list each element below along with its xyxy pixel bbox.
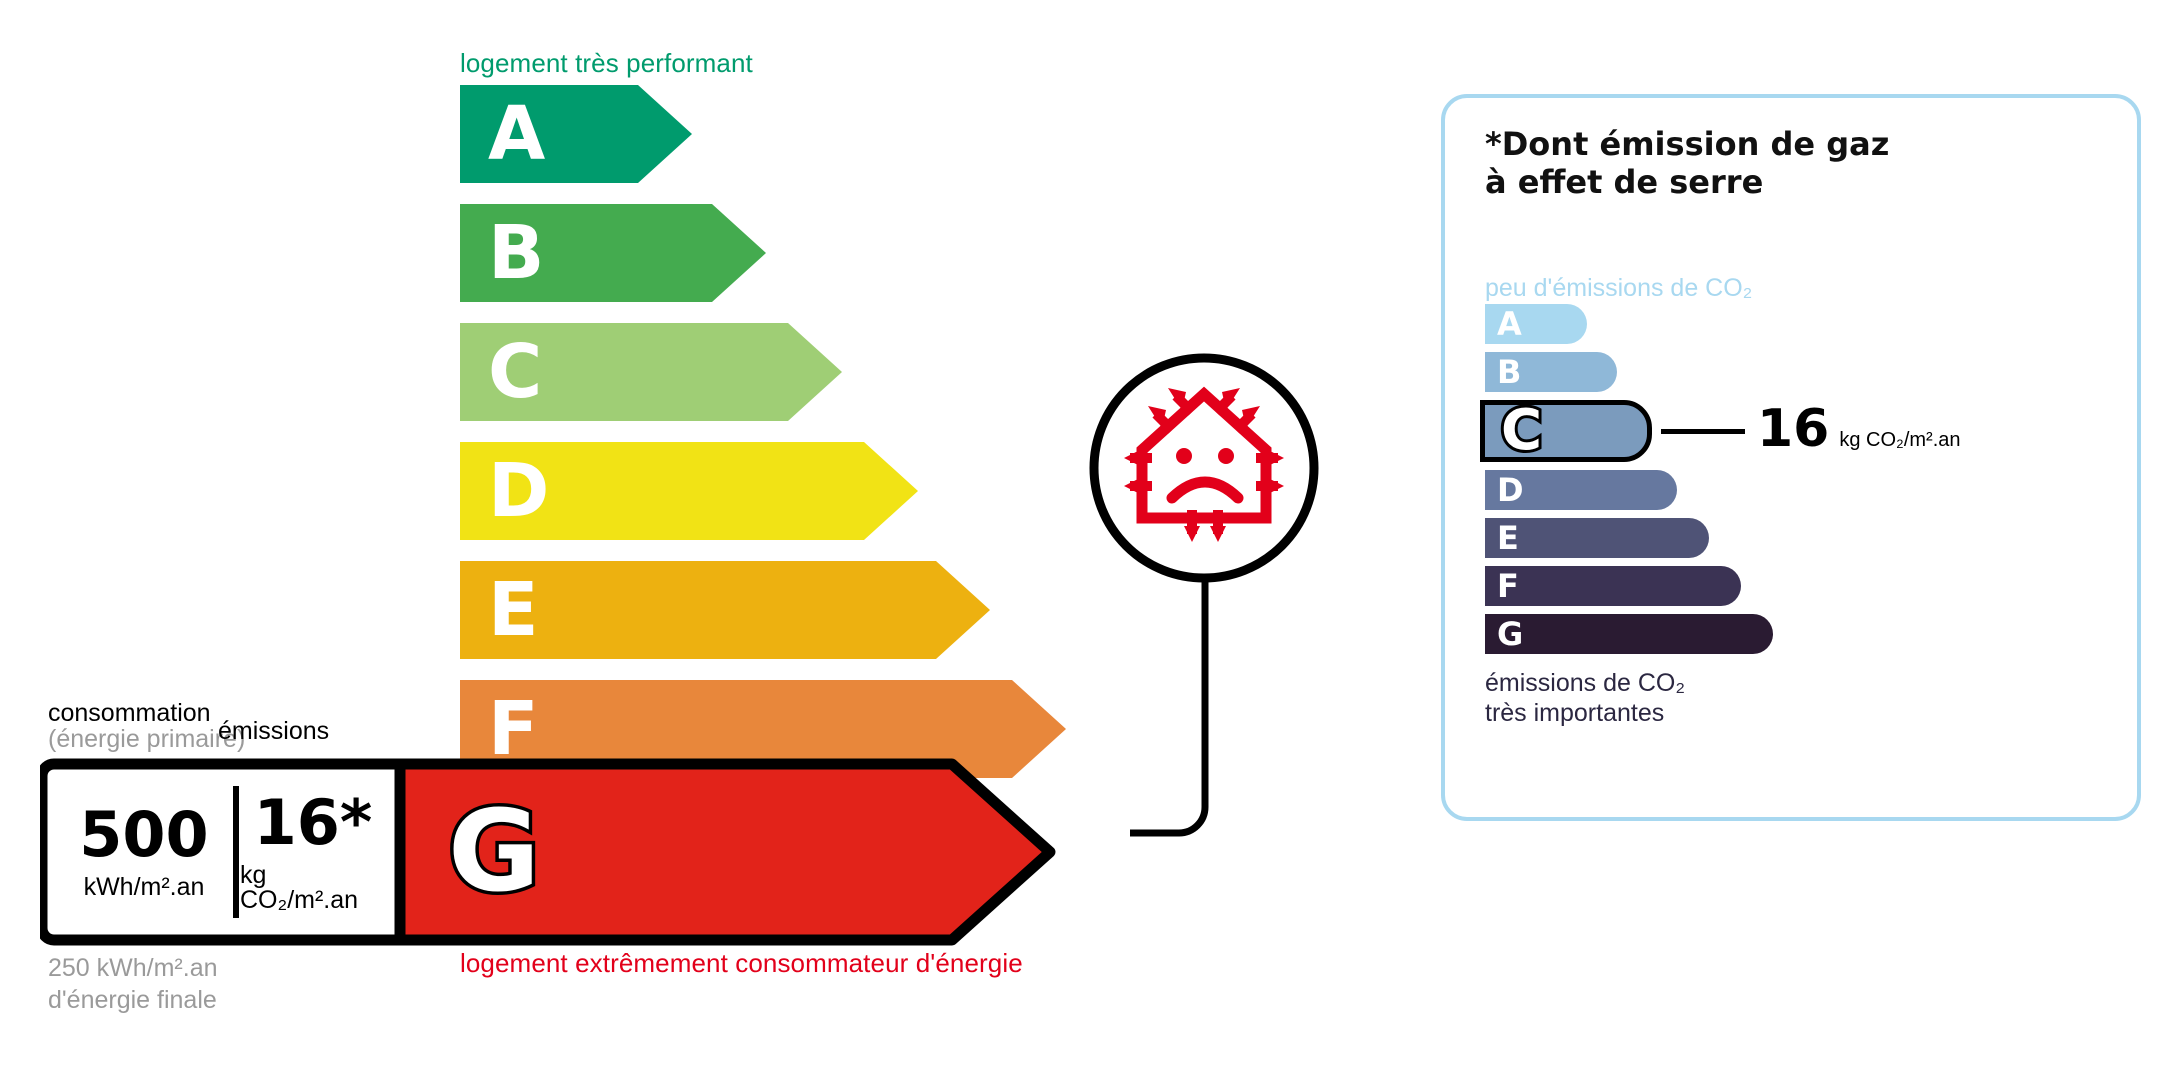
final-energy-value: 250 kWh/m².an bbox=[48, 952, 218, 984]
co2-title-line1: *Dont émission de gaz bbox=[1485, 126, 1889, 164]
energy-bar-letter: B bbox=[488, 216, 544, 290]
energy-bar-letter: C bbox=[488, 335, 542, 409]
consumption-header-main: consommation bbox=[48, 699, 211, 727]
co2-bar-d: D bbox=[1485, 470, 1677, 510]
energy-bar-shape bbox=[460, 561, 990, 659]
co2-value: 16 bbox=[1757, 403, 1829, 455]
co2-bar-letter: C bbox=[1501, 403, 1542, 459]
co2-value-leader-line bbox=[1661, 429, 1745, 434]
selected-class-row: 500 kWh/m².an 16* kg CO₂/m².an G bbox=[40, 758, 1130, 946]
co2-title-line2: à effet de serre bbox=[1485, 164, 1889, 202]
co2-bar-f: F bbox=[1485, 566, 1741, 606]
energy-bottom-label: logement extrêmement consommateur d'éner… bbox=[460, 948, 1023, 979]
dpe-diagram: logement très performant ABCDEF consomma… bbox=[0, 0, 2169, 1079]
co2-emissions-panel: *Dont émission de gaz à effet de serre p… bbox=[1441, 94, 2141, 821]
final-energy-caption: d'énergie finale bbox=[48, 984, 218, 1016]
energy-bar-b: B bbox=[460, 204, 766, 302]
co2-bar-letter: F bbox=[1497, 570, 1519, 602]
energy-bar-letter: E bbox=[488, 573, 539, 647]
energy-bar-a: A bbox=[460, 85, 692, 183]
emission-value: 16* bbox=[254, 792, 373, 854]
consumption-value: 500 bbox=[79, 804, 208, 866]
final-energy-note: 250 kWh/m².an d'énergie finale bbox=[48, 952, 218, 1016]
co2-top-label: peu d'émissions de CO₂ bbox=[1485, 274, 1752, 303]
co2-bar-letter: G bbox=[1497, 618, 1523, 650]
co2-bar-letter: A bbox=[1497, 308, 1522, 340]
energy-performance-panel: logement très performant ABCDEF consomma… bbox=[0, 0, 1300, 1079]
consumption-value-cell: 500 kWh/m².an bbox=[54, 758, 234, 946]
co2-bar-letter: B bbox=[1497, 356, 1521, 388]
co2-bar-letter: E bbox=[1497, 522, 1519, 554]
co2-bottom-label: émissions de CO₂ très importantes bbox=[1485, 668, 1685, 728]
energy-bar-d: D bbox=[460, 442, 918, 540]
co2-bar-e: E bbox=[1485, 518, 1709, 558]
co2-panel-title: *Dont émission de gaz à effet de serre bbox=[1485, 126, 1889, 202]
consumption-header-sub: (énergie primaire) bbox=[48, 726, 245, 752]
co2-bar-letter: D bbox=[1497, 474, 1524, 506]
energy-bar-e: E bbox=[460, 561, 990, 659]
consumption-header: consommation (énergie primaire) bbox=[48, 700, 245, 753]
co2-bar-c: C bbox=[1480, 400, 1652, 462]
co2-bar-a: A bbox=[1485, 304, 1587, 344]
emissions-header: émissions bbox=[218, 718, 329, 744]
selected-class-letter: G bbox=[448, 796, 540, 908]
emission-value-cell: 16* kg CO₂/m².an bbox=[240, 758, 386, 946]
energy-bar-letter: F bbox=[488, 692, 539, 766]
energy-bar-c: C bbox=[460, 323, 842, 421]
co2-bottom-line2: très importantes bbox=[1485, 698, 1685, 728]
energy-bar-letter: A bbox=[488, 97, 545, 171]
emission-unit: kg CO₂/m².an bbox=[240, 863, 386, 913]
co2-bar-b: B bbox=[1485, 352, 1617, 392]
co2-value-callout: 16kg CO₂/m².an bbox=[1757, 403, 1961, 455]
co2-bar-g: G bbox=[1485, 614, 1773, 654]
co2-unit: kg CO₂/m².an bbox=[1839, 429, 1960, 452]
co2-class-bars: ABC16kg CO₂/m².anDEFG bbox=[1485, 304, 2125, 664]
co2-bottom-line1: émissions de CO₂ bbox=[1485, 668, 1685, 698]
energy-bar-letter: D bbox=[488, 454, 549, 528]
consumption-unit: kWh/m².an bbox=[84, 875, 205, 900]
sad-house-heat-loss-icon bbox=[1088, 352, 1320, 584]
